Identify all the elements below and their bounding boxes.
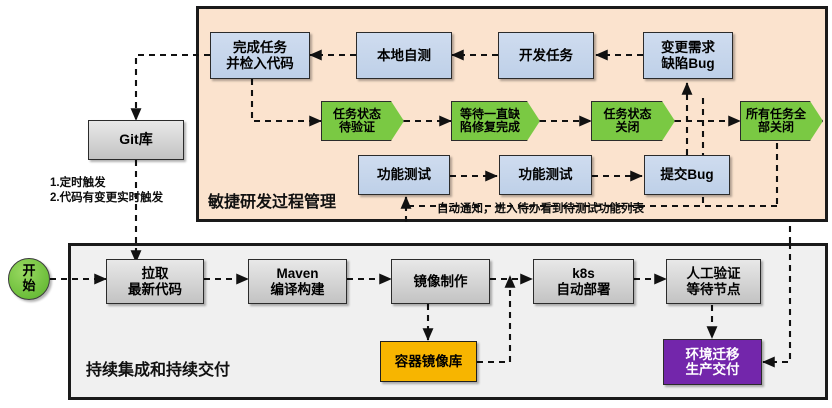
trigger-note-text: 1.定时触发 2.代码有变更实时触发 (50, 176, 163, 205)
node-image-build[interactable]: 镜像制作 (391, 259, 490, 304)
node-maven-build[interactable]: Maven 编译构建 (248, 259, 347, 304)
node-pull-latest-code[interactable]: 拉取 最新代码 (106, 259, 204, 304)
node-functional-test-2[interactable]: 功能测试 (499, 155, 592, 195)
agile-annotation-text: 自动通知，进入待办看到待测试功能列表 (437, 200, 644, 216)
node-wait-defect-fixed[interactable]: 等待一直缺 陷修复完成 (451, 101, 540, 141)
node-container-image-registry[interactable]: 容器镜像库 (380, 341, 477, 382)
node-task-status-closed[interactable]: 任务状态 关闭 (591, 101, 675, 141)
node-complete-task-checkin[interactable]: 完成任务 并检入代码 (210, 32, 310, 79)
node-env-migration-prod-delivery[interactable]: 环境迁移 生产交付 (663, 339, 762, 385)
node-submit-bug[interactable]: 提交Bug (644, 155, 730, 195)
node-git-repository[interactable]: Git库 (88, 120, 184, 160)
node-functional-test-1[interactable]: 功能测试 (358, 155, 450, 195)
node-all-tasks-closed[interactable]: 所有任务全 部关闭 (740, 101, 823, 141)
node-change-request-bug[interactable]: 变更需求 缺陷Bug (643, 32, 733, 79)
node-manual-verify-wait[interactable]: 人工验证 等待节点 (666, 259, 761, 304)
node-dev-task[interactable]: 开发任务 (498, 32, 594, 79)
node-task-status-pending-verify[interactable]: 任务状态 待验证 (321, 101, 404, 141)
diagram-canvas: 敏捷研发过程管理 持续集成和持续交付 完成任务 并检入代码 本地自测 开发任务 … (0, 0, 832, 408)
panel-cicd-label: 持续集成和持续交付 (86, 356, 230, 380)
panel-agile-label: 敏捷研发过程管理 (208, 188, 336, 212)
node-local-self-test[interactable]: 本地自测 (356, 32, 452, 79)
node-start[interactable]: 开 始 (8, 258, 50, 300)
node-k8s-auto-deploy[interactable]: k8s 自动部署 (533, 259, 634, 304)
